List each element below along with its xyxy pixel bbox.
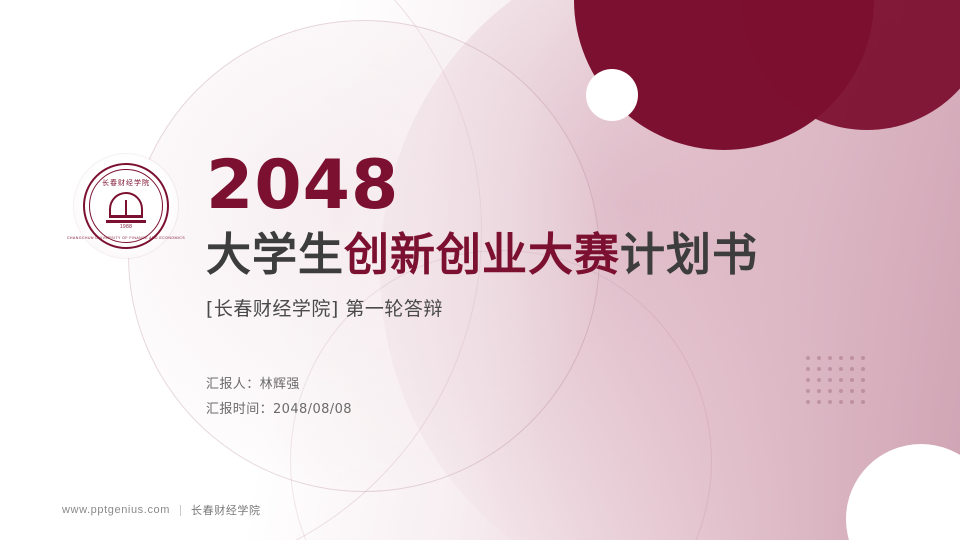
footer-website[interactable]: www.pptgenius.com: [62, 504, 170, 516]
title-content: 2048 大学生创新创业大赛计划书 [长春财经学院] 第一轮答辩 汇报人：林辉强…: [206, 152, 846, 423]
decorative-circle-white-small: [586, 69, 638, 121]
headline-part-3: 计划书: [620, 228, 758, 281]
logo-gate-icon: [109, 192, 143, 218]
university-logo: 长春财经学院 1988 CHANGCHUN UNIVERSITY OF FINA…: [74, 154, 178, 258]
title-slide: 长春财经学院 1988 CHANGCHUN UNIVERSITY OF FINA…: [0, 0, 960, 540]
page-title: 大学生创新创业大赛计划书: [206, 230, 846, 280]
year-title: 2048: [206, 152, 846, 220]
logo-emblem-icon: 1988: [102, 182, 150, 230]
headline-part-2-highlight: 创新创业大赛: [344, 228, 620, 281]
subtitle: [长春财经学院] 第一轮答辩: [206, 294, 846, 321]
logo-chinese-name: 长春财经学院: [102, 178, 150, 188]
presentation-meta: 汇报人：林辉强 汇报时间：2048/08/08: [206, 373, 846, 422]
presenter-line: 汇报人：林辉强: [206, 373, 846, 398]
footer: www.pptgenius.com 长春财经学院: [62, 502, 261, 518]
headline-part-1: 大学生: [206, 228, 344, 281]
logo-seal-ring: 长春财经学院 1988 CHANGCHUN UNIVERSITY OF FINA…: [83, 163, 169, 249]
logo-english-name: CHANGCHUN UNIVERSITY OF FINANCE AND ECON…: [67, 236, 185, 240]
footer-organization: 长春财经学院: [191, 502, 261, 518]
footer-divider: [180, 505, 181, 516]
logo-base-bar: [106, 220, 146, 223]
logo-founding-year: 1988: [120, 224, 132, 230]
date-line: 汇报时间：2048/08/08: [206, 398, 846, 423]
